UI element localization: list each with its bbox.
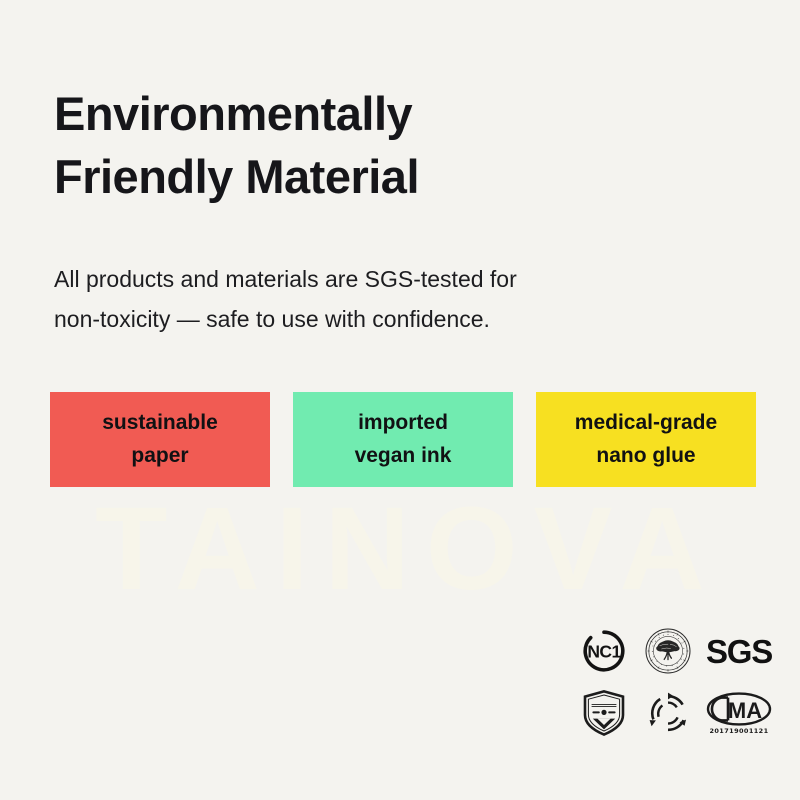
material-chip-list: sustainable paper imported vegan ink med…	[50, 392, 760, 487]
sgs-wordmark-icon: SGS	[701, 620, 777, 682]
brand-watermark: TAINOVA	[0, 484, 800, 614]
chip-sustainable-paper: sustainable paper	[50, 392, 270, 487]
chip-label-line-1: medical-grade	[575, 407, 717, 440]
fsc-tree-seal-icon	[635, 620, 701, 682]
shield-chevron-icon	[573, 682, 635, 744]
cma-mark-icon: MA 201719001121	[701, 682, 777, 744]
chip-label-line-1: sustainable	[102, 407, 218, 440]
recycling-arrows-icon	[635, 682, 701, 744]
chip-label-line-2: nano glue	[596, 440, 695, 473]
svg-text:NC1: NC1	[587, 642, 621, 662]
cma-certificate-number: 201719001121	[709, 727, 768, 735]
chip-label-line-1: imported	[358, 407, 448, 440]
sgs-wordmark-label: SGS	[706, 635, 772, 668]
nc1-circle-icon: NC1	[573, 620, 635, 682]
svg-text:MA: MA	[728, 698, 762, 723]
page-subtitle-line-1: All products and materials are SGS-teste…	[54, 259, 694, 299]
chip-label-line-2: vegan ink	[355, 440, 452, 473]
page-subtitle: All products and materials are SGS-teste…	[54, 259, 694, 339]
chip-imported-vegan-ink: imported vegan ink	[293, 392, 513, 487]
page-title: Environmentally Friendly Material	[54, 83, 744, 208]
page-title-line-2: Friendly Material	[54, 146, 744, 209]
page-title-line-1: Environmentally	[54, 83, 744, 146]
poster-canvas: TAINOVA Environmentally Friendly Materia…	[0, 0, 800, 800]
chip-medical-grade-nano-glue: medical-grade nano glue	[536, 392, 756, 487]
certification-badge-grid: NC1	[573, 620, 773, 748]
chip-label-line-2: paper	[131, 440, 188, 473]
page-subtitle-line-2: non-toxicity — safe to use with confiden…	[54, 299, 694, 339]
